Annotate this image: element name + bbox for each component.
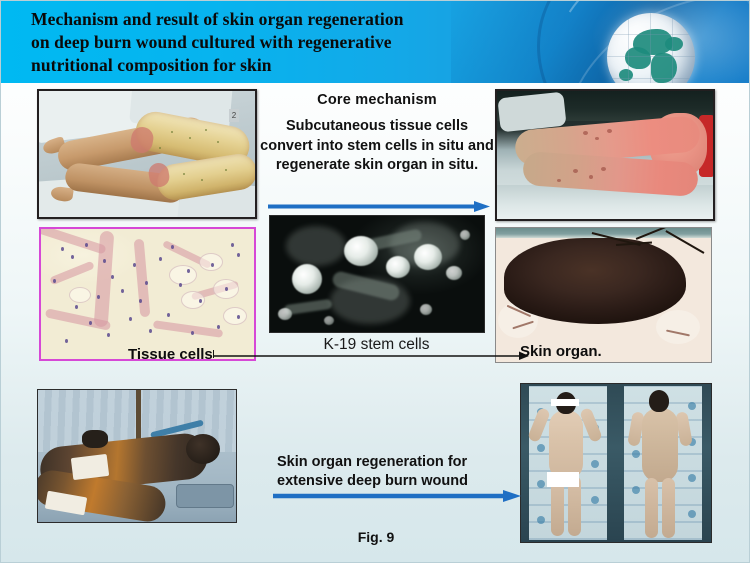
page-title-line-3: nutritional composition for skin bbox=[31, 54, 501, 77]
arrow-right-blue-top bbox=[268, 201, 490, 212]
photo-extensive-burn-patient bbox=[37, 389, 237, 523]
figure-caption: Fig. 9 bbox=[1, 529, 750, 545]
page-title-line-2: on deep burn wound cultured with regener… bbox=[31, 31, 501, 54]
photo-tissue-cells-histology bbox=[39, 227, 256, 361]
core-mechanism-body: Subcutaneous tissue cells convert into s… bbox=[259, 117, 495, 176]
privacy-censor-bar-eyes bbox=[551, 399, 579, 406]
slide-root: Mechanism and result of skin organ regen… bbox=[0, 0, 750, 563]
label-tissue-cells: Tissue cells bbox=[128, 346, 213, 363]
photo-recovered-patient-front-back bbox=[520, 383, 712, 543]
label-skin-organ: Skin organ. bbox=[520, 343, 602, 360]
bottom-description-line-2: extensive deep burn wound bbox=[277, 472, 527, 491]
photo-deep-burn-wound-legs: 2 bbox=[37, 89, 257, 219]
photo-regenerated-skin-legs bbox=[495, 89, 715, 221]
bottom-description: Skin organ regeneration for extensive de… bbox=[277, 453, 527, 491]
page-title-line-1: Mechanism and result of skin organ regen… bbox=[31, 8, 501, 31]
core-mechanism-heading: Core mechanism bbox=[263, 92, 491, 108]
label-k19-stem-cells: K-19 stem cells bbox=[279, 336, 474, 354]
privacy-censor-bar-groin bbox=[547, 472, 579, 487]
photo-k19-stem-cells-micrograph bbox=[269, 215, 485, 333]
arrow-right-blue-bottom bbox=[273, 490, 521, 502]
bottom-description-line-1: Skin organ regeneration for bbox=[277, 453, 527, 472]
page-title: Mechanism and result of skin organ regen… bbox=[31, 8, 501, 77]
globe-icon bbox=[607, 13, 695, 83]
header-banner: Mechanism and result of skin organ regen… bbox=[1, 1, 750, 83]
